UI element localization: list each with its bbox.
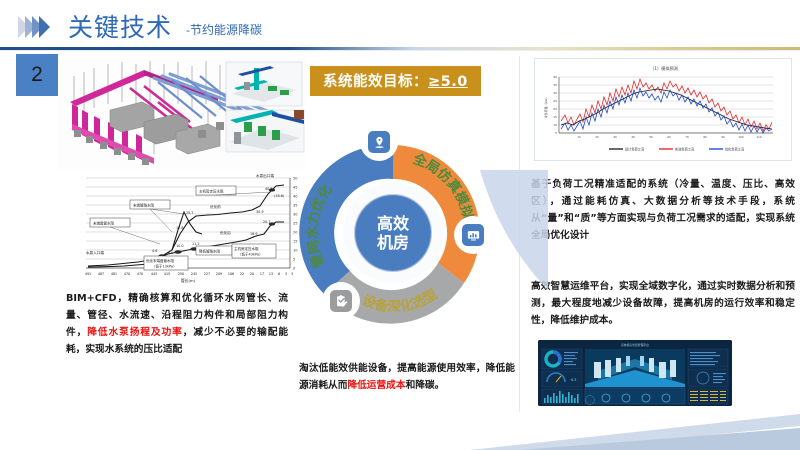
svg-text:16.9: 16.9	[250, 232, 258, 236]
header-divider-secondary	[0, 50, 800, 51]
donut-badge-pipe-hydraulic[interactable]	[362, 125, 396, 159]
svg-text:3: 3	[285, 272, 287, 276]
svg-text:17: 17	[260, 272, 264, 276]
svg-text:90: 90	[721, 135, 725, 139]
middle-paragraph-highlight: 降低运营成本	[347, 380, 405, 391]
svg-text:17.8: 17.8	[176, 226, 184, 230]
right-paragraph-system-matching: 基于负荷工况精准适配的系统（冷量、温度、压比、高效区），通过能耗仿真、大数据分析…	[531, 176, 795, 244]
svg-text:106: 106	[228, 272, 234, 276]
decorative-corner-shapes	[0, 400, 800, 450]
svg-text:主机房定压水阻: 主机房定压水阻	[199, 189, 224, 194]
svg-text:冷负荷量（kW）: 冷负荷量（kW）	[543, 96, 548, 119]
svg-text:11.2: 11.2	[192, 242, 200, 246]
svg-text:高效机房智慧管理平台: 高效机房智慧管理平台	[621, 343, 649, 347]
svg-text:50: 50	[649, 135, 653, 139]
middle-paragraph: 淘汰低能效供能设备，提高能源使用效率，降低能源消耗从而降低运营成本和降碳。	[299, 360, 515, 394]
banner-prefix: 系统能效目标：	[323, 74, 428, 90]
efficient-plant-donut-diagram: 管网水力优化 全局仿真模拟 设备深化选型 高效 机房	[288, 128, 498, 338]
double-chevron-right-icon	[22, 16, 50, 38]
svg-text:20: 20	[553, 107, 557, 111]
svg-text:40.5: 40.5	[265, 187, 273, 191]
svg-text:10: 10	[553, 123, 557, 127]
page-subtitle: -节约能源降碳	[186, 21, 262, 38]
page-title: 关键技术	[68, 8, 172, 44]
svg-text:优化前: 优化前	[210, 204, 221, 209]
smart-operations-dashboard: 高效机房智慧管理平台 6.3	[538, 340, 732, 406]
svg-text:481: 481	[111, 272, 117, 276]
svg-text:40: 40	[553, 75, 557, 79]
svg-text:主机房定压水阻: 主机房定压水阻	[234, 246, 259, 251]
svg-text:30: 30	[613, 135, 617, 139]
svg-text:15: 15	[553, 115, 557, 119]
load-simulation-timeseries-chart: （1）模拟预测 4035 3025 2015 105 冷负荷量（kW）	[534, 58, 792, 161]
svg-text:227: 227	[204, 272, 210, 276]
svg-text:25.7: 25.7	[186, 211, 194, 215]
svg-text:487: 487	[98, 272, 104, 276]
svg-text:100: 100	[739, 135, 744, 139]
svg-text:30: 30	[553, 91, 557, 95]
svg-text:末端管路水阻: 末端管路水阻	[133, 203, 154, 208]
svg-text:491: 491	[85, 272, 91, 276]
svg-text:（低于13kPa）: （低于13kPa）	[152, 264, 177, 269]
svg-text:管长(m): 管长(m)	[181, 278, 196, 283]
svg-text:10: 10	[577, 135, 581, 139]
efficiency-target-banner: 系统能效目标：≥5.0	[310, 66, 481, 96]
svg-text:降低管路水阻: 降低管路水阻	[199, 249, 220, 254]
left-paragraph-highlight: 降低水泵扬程及功率	[87, 327, 183, 338]
slide-number-badge: 2	[16, 54, 58, 96]
svg-text:70: 70	[685, 135, 689, 139]
svg-text:6: 6	[278, 272, 280, 276]
svg-text:优化末端盘管水阻: 优化末端盘管水阻	[146, 258, 174, 263]
right-paragraph-smart-ops: 高效智慧运维平台，实现全域数字化，通过实时数据分析和预测，最大程度地减少设备故障…	[531, 278, 795, 329]
svg-text:5: 5	[555, 131, 557, 135]
svg-text:470: 470	[137, 272, 143, 276]
svg-text:22: 22	[240, 272, 244, 276]
svg-text:设计负荷工况: 设计负荷工况	[625, 147, 645, 152]
svg-text:35: 35	[553, 83, 557, 87]
svg-text:8.9: 8.9	[168, 251, 173, 255]
svg-text:4.6: 4.6	[152, 249, 157, 253]
svg-text:30.9: 30.9	[256, 210, 264, 214]
bar-chart-monitor-icon	[462, 224, 484, 246]
svg-text:209: 209	[216, 272, 222, 276]
svg-text:80: 80	[703, 135, 707, 139]
svg-text:6.3: 6.3	[571, 378, 576, 382]
svg-text:470: 470	[124, 272, 130, 276]
svg-text:250: 250	[178, 272, 184, 276]
svg-text:末端盘管水阻: 末端盘管水阻	[93, 221, 114, 226]
svg-text:245: 245	[191, 272, 197, 276]
column-separator	[519, 56, 520, 412]
svg-text:415: 415	[164, 272, 170, 276]
svg-text:60: 60	[667, 135, 671, 139]
svg-text:(18.6): (18.6)	[274, 194, 285, 198]
svg-text:实测负荷工况: 实测负荷工况	[675, 147, 695, 152]
svg-text:20: 20	[595, 135, 599, 139]
donut-badge-global-simulation[interactable]	[456, 218, 490, 252]
donut-badge-equipment-selection[interactable]	[324, 284, 358, 318]
svg-text:水泵出口端: 水泵出口端	[256, 173, 274, 178]
svg-text:优化负荷工况: 优化负荷工况	[725, 147, 745, 152]
banner-value: ≥5.0	[428, 74, 468, 90]
checklist-clipboard-icon	[330, 290, 352, 312]
svg-text:10.0: 10.0	[176, 244, 184, 248]
svg-text:443: 443	[151, 272, 157, 276]
location-pin-icon	[368, 131, 390, 153]
svg-text:水泵入口端: 水泵入口端	[86, 250, 104, 255]
bim-piping-3d-model	[58, 58, 306, 170]
svg-text:20: 20	[250, 272, 254, 276]
svg-text:（低于43kPa）: （低于43kPa）	[238, 252, 263, 257]
svg-text:（1）模拟预测: （1）模拟预测	[650, 65, 678, 72]
svg-text:优化后: 优化后	[220, 230, 231, 235]
pressure-distribution-chart: 5045 4035 3025 2015 105 0	[60, 172, 310, 284]
slide-canvas: 关键技术 -节约能源降碳 2	[0, 0, 800, 450]
middle-paragraph-part2: 和降碳。	[406, 380, 445, 391]
svg-text:110: 110	[757, 135, 762, 139]
svg-text:25: 25	[553, 99, 557, 103]
svg-text:13: 13	[269, 272, 273, 276]
left-paragraph: BIM+CFD，精确核算和优化循环水网管长、流量、管径、水流速、沿程阻力构件和局…	[66, 290, 288, 358]
svg-text:40: 40	[631, 135, 635, 139]
svg-text:20.7: 20.7	[263, 220, 271, 224]
